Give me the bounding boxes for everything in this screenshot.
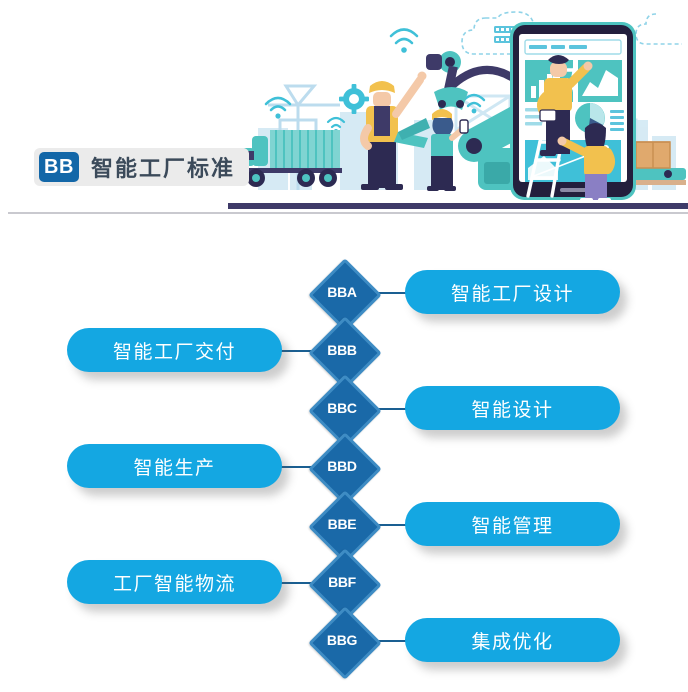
page-header: BB 智能工厂标准: [0, 0, 688, 228]
node-label: BBG: [314, 612, 370, 668]
header-divider: [8, 212, 688, 214]
smart-factory-illustration: [228, 0, 688, 215]
node-label: BBC: [314, 380, 370, 436]
node-bbf[interactable]: BBF: [314, 554, 370, 610]
diagram-row: BBD智能生产: [0, 438, 688, 496]
node-bbb[interactable]: BBB: [314, 322, 370, 378]
diagram-row: BBB智能工厂交付: [0, 322, 688, 380]
pill-bbe[interactable]: 智能管理: [405, 502, 620, 546]
node-bbd[interactable]: BBD: [314, 438, 370, 494]
node-label: BBE: [314, 496, 370, 552]
node-bbe[interactable]: BBE: [314, 496, 370, 552]
node-bbc[interactable]: BBC: [314, 380, 370, 436]
pill-bbd[interactable]: 智能生产: [67, 444, 282, 488]
page-title: 智能工厂标准: [91, 151, 235, 183]
diagram-row: BBC智能设计: [0, 380, 688, 438]
node-label: BBD: [314, 438, 370, 494]
diagram-row: BBF工厂智能物流: [0, 554, 688, 612]
node-label: BBB: [314, 322, 370, 378]
node-label: BBA: [314, 264, 370, 320]
diagram-row: BBA智能工厂设计: [0, 264, 688, 322]
pill-bba[interactable]: 智能工厂设计: [405, 270, 620, 314]
section-badge: BB: [39, 152, 79, 182]
page-title-row: BB 智能工厂标准: [34, 148, 249, 186]
pill-bbb[interactable]: 智能工厂交付: [67, 328, 282, 372]
pill-bbg[interactable]: 集成优化: [405, 618, 620, 662]
pill-bbc[interactable]: 智能设计: [405, 386, 620, 430]
smart-factory-standard-diagram: BBA智能工厂设计BBB智能工厂交付BBC智能设计BBD智能生产BBE智能管理B…: [0, 228, 688, 692]
diagram-row: BBG集成优化: [0, 612, 688, 670]
node-bbg[interactable]: BBG: [314, 612, 370, 668]
node-label: BBF: [314, 554, 370, 610]
node-bba[interactable]: BBA: [314, 264, 370, 320]
pill-bbf[interactable]: 工厂智能物流: [67, 560, 282, 604]
diagram-row: BBE智能管理: [0, 496, 688, 554]
